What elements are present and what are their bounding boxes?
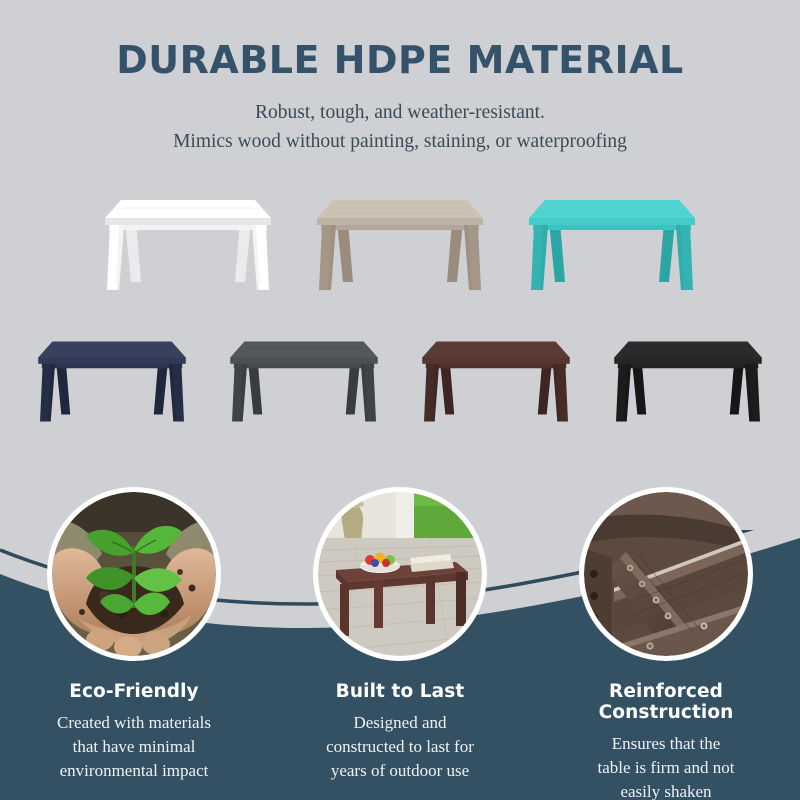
black-table-icon: [595, 322, 781, 434]
white-table-icon: [85, 178, 291, 304]
feature-title: Reinforced Construction: [544, 661, 788, 723]
patio-coffee-table-icon: [318, 492, 482, 656]
color-swatch-gallery: [0, 178, 800, 434]
swatch-row-top: [0, 178, 800, 304]
feature-desc-line-3: years of outdoor use: [278, 759, 522, 783]
header: DURABLE HDPE MATERIAL Robust, tough, and…: [0, 0, 800, 156]
feature-built-to-last: Built to Last Designed and constructed t…: [278, 487, 522, 783]
feature-desc-line-2: that have minimal: [12, 735, 256, 759]
feature-description: Created with materials that have minimal…: [12, 702, 256, 783]
feature-title: Built to Last: [278, 661, 522, 702]
feature-desc-line-2: constructed to last for: [278, 735, 522, 759]
feature-description: Designed and constructed to last for yea…: [278, 702, 522, 783]
aruba-blue-table-icon: [509, 178, 715, 304]
feature-desc-line-1: Designed and: [278, 711, 522, 735]
feature-image-frame[interactable]: [313, 487, 487, 661]
feature-image-frame[interactable]: [579, 487, 753, 661]
feature-desc-line-3: easily shaken: [544, 780, 788, 800]
infographic-page: DURABLE HDPE MATERIAL Robust, tough, and…: [0, 0, 800, 800]
feature-desc-line-3: environmental impact: [12, 759, 256, 783]
table-frame-closeup-icon: [584, 492, 748, 656]
hands-holding-seedling-icon: [52, 492, 216, 656]
feature-desc-line-1: Created with materials: [12, 711, 256, 735]
swatch-driftwood-table[interactable]: [297, 178, 503, 304]
mahogany-table-icon: [403, 322, 589, 434]
feature-eco-friendly: Eco-Friendly Created with materials that…: [12, 487, 256, 783]
swatch-navy-blue-table[interactable]: [19, 322, 205, 434]
driftwood-table-icon: [297, 178, 503, 304]
feature-description: Ensures that the table is firm and not e…: [544, 723, 788, 800]
swatch-row-bottom: [0, 322, 800, 434]
feature-desc-line-2: table is firm and not: [544, 756, 788, 780]
swatch-white-table[interactable]: [85, 178, 291, 304]
feature-reinforced-construction: Reinforced Construction Ensures that the…: [544, 487, 788, 800]
swatch-black-table[interactable]: [595, 322, 781, 434]
feature-desc-line-1: Ensures that the: [544, 732, 788, 756]
page-title: DURABLE HDPE MATERIAL: [0, 0, 800, 82]
page-subtitle: Robust, tough, and weather-resistant. Mi…: [0, 82, 800, 157]
feature-image-frame[interactable]: [47, 487, 221, 661]
swatch-slate-gray-table[interactable]: [211, 322, 397, 434]
swatch-mahogany-table[interactable]: [403, 322, 589, 434]
navy-blue-table-icon: [19, 322, 205, 434]
subtitle-line-2: Mimics wood without painting, staining, …: [0, 127, 800, 156]
feature-title: Eco-Friendly: [12, 661, 256, 702]
swatch-aruba-blue-table[interactable]: [509, 178, 715, 304]
slate-gray-table-icon: [211, 322, 397, 434]
feature-list: Eco-Friendly Created with materials that…: [0, 487, 800, 800]
subtitle-line-1: Robust, tough, and weather-resistant.: [0, 98, 800, 127]
